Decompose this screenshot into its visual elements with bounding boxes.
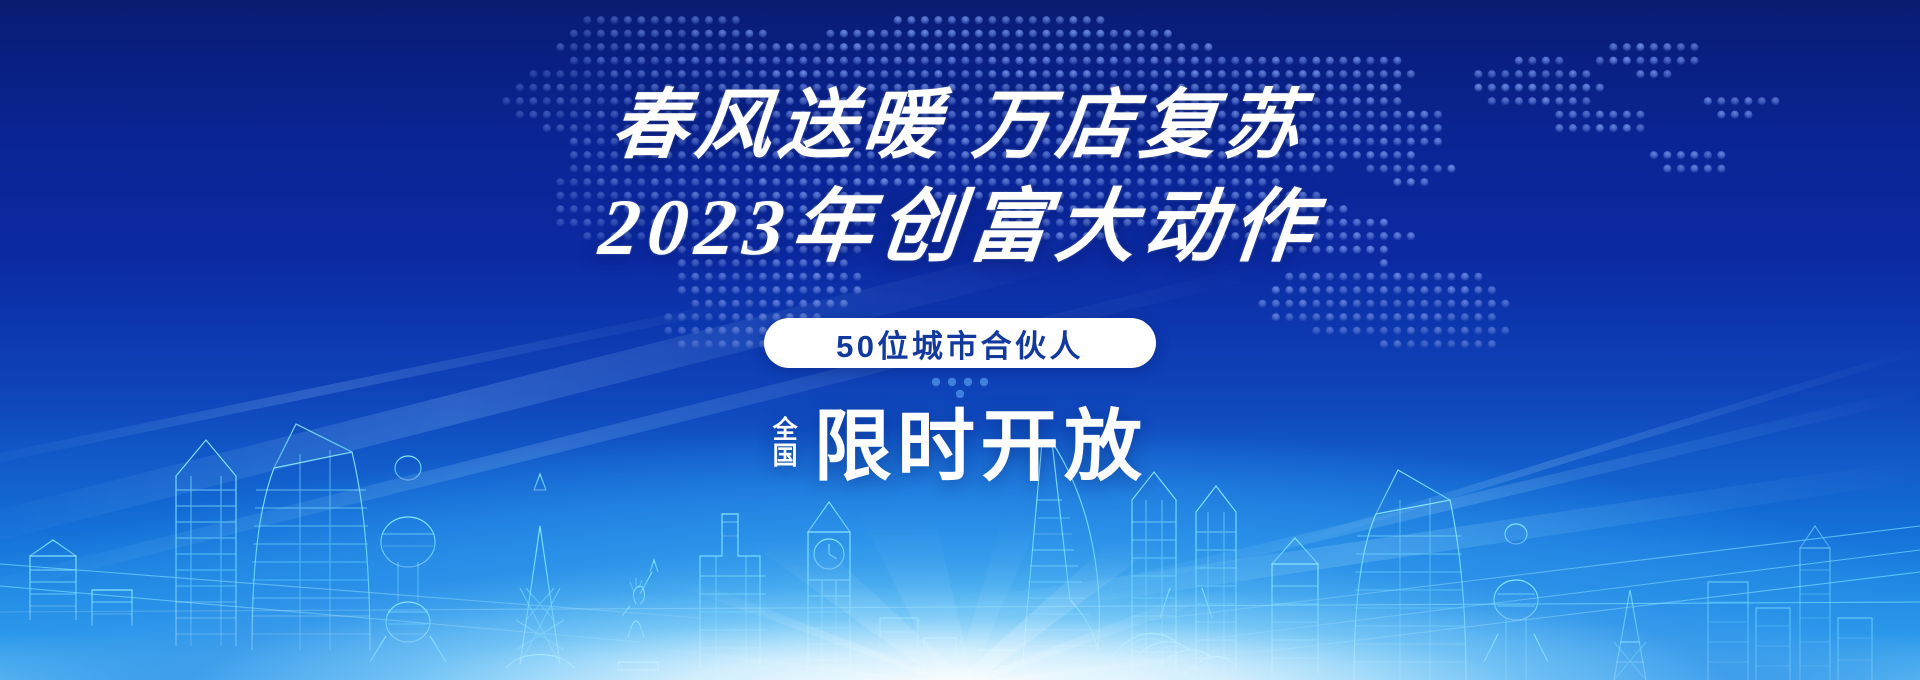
headline-title-line-1: 春风送暖 万店复苏: [596, 88, 1324, 164]
title-block: 春风送暖 万店复苏 2023年创富大动作: [600, 88, 1320, 268]
badge-wrapper: 50位城市合伙人: [764, 318, 1156, 368]
city-partner-badge[interactable]: 50位城市合伙人: [764, 318, 1156, 368]
limited-time-open-text: 限时开放: [814, 384, 1148, 496]
banner-content: 春风送暖 万店复苏 2023年创富大动作 50位城市合伙人 全: [0, 0, 1920, 680]
subheadline: 全 国 限时开放: [773, 384, 1148, 496]
nationwide-char-2: 国: [773, 443, 798, 469]
promo-banner: 春风送暖 万店复苏 2023年创富大动作 50位城市合伙人 全: [0, 0, 1920, 680]
nationwide-char-1: 全: [773, 417, 798, 443]
headline-title-line-2: 2023年创富大动作: [596, 188, 1324, 268]
badge-dot-decor: [920, 376, 1000, 398]
nationwide-label: 全 国: [773, 411, 798, 469]
